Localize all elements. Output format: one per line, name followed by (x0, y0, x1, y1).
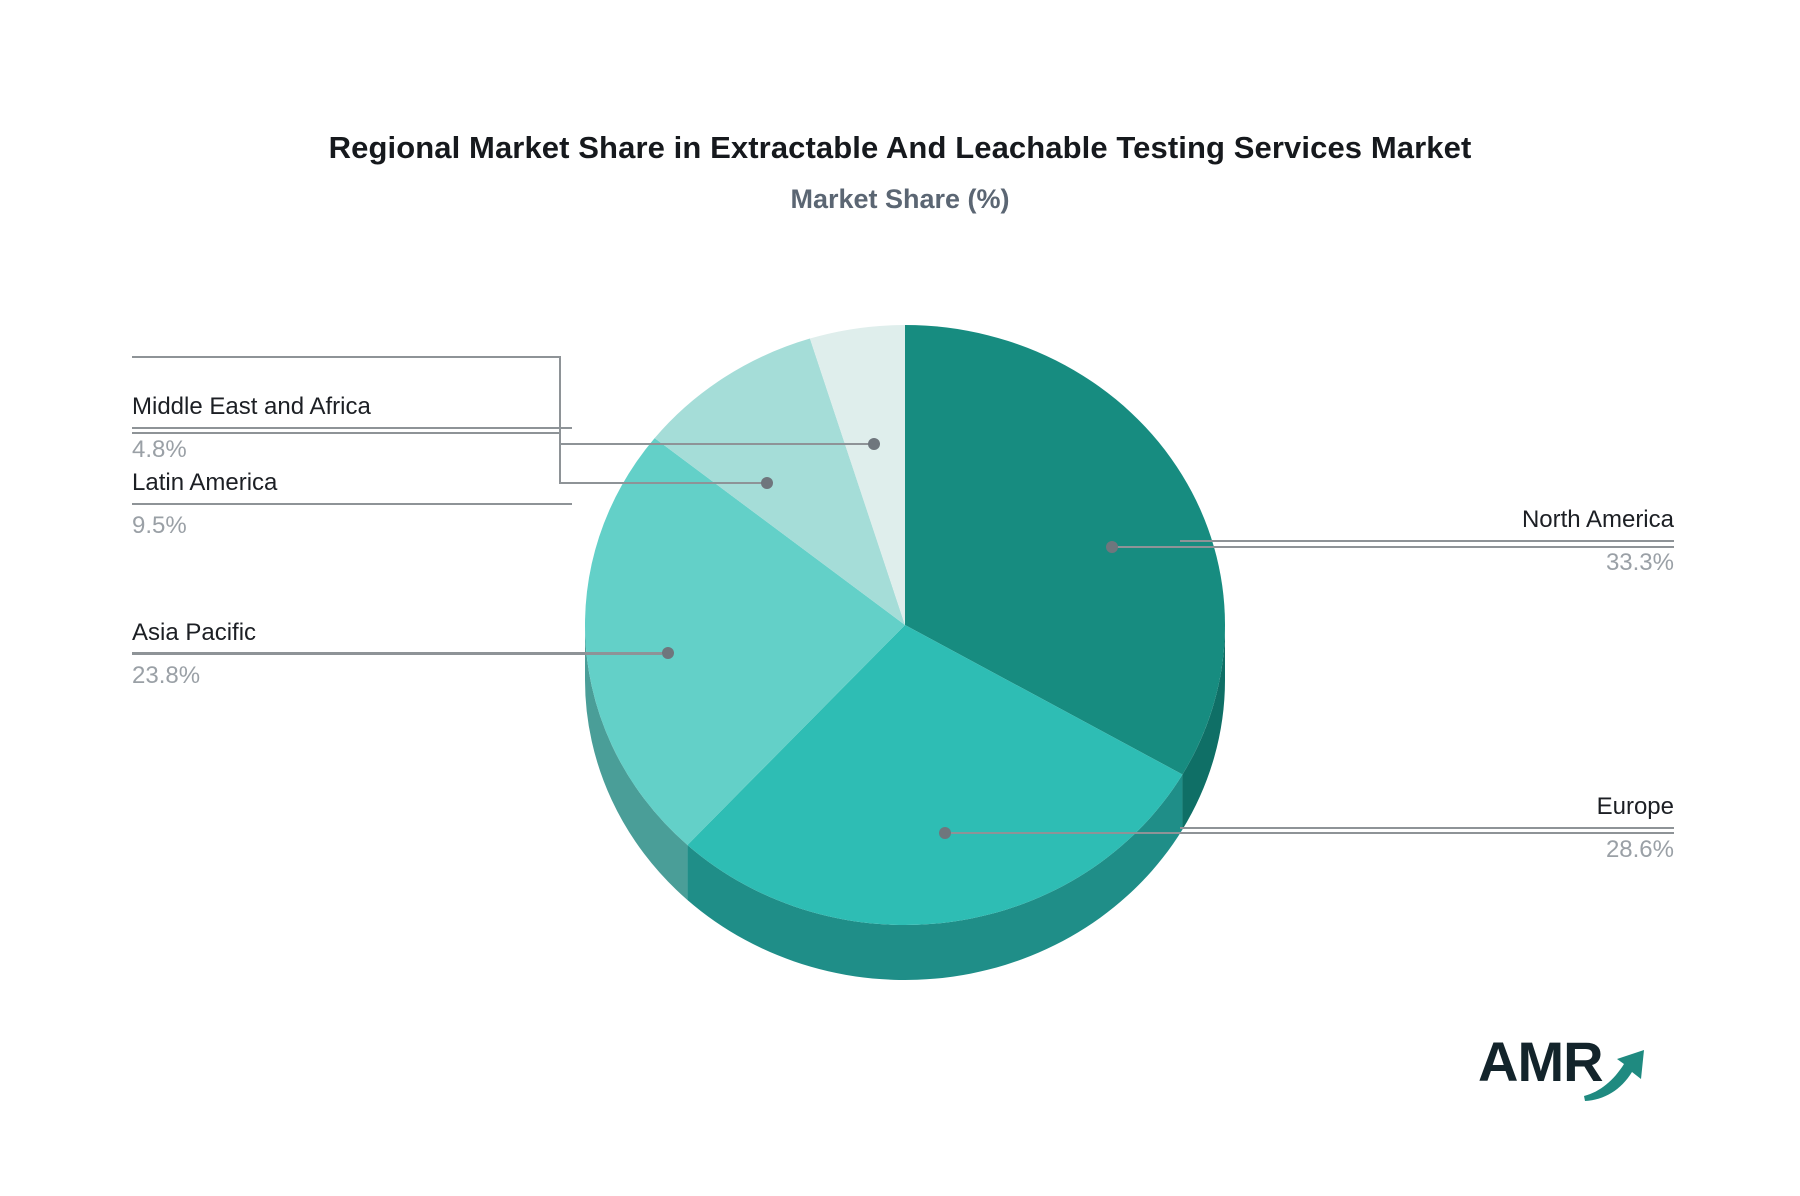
callout-value: 23.8% (132, 655, 662, 691)
page-title: Regional Market Share in Extractable And… (0, 128, 1800, 168)
growth-arrow-icon (1478, 1030, 1658, 1102)
callout-value: 4.8% (132, 429, 572, 465)
pie-svg: North America 33.3%Europe 28.6%Asia Paci… (585, 370, 1225, 930)
chart-subtitle: Market Share (%) (0, 182, 1800, 216)
callout-label: Europe (1180, 792, 1674, 827)
pie-chart: North America 33.3%Europe 28.6%Asia Paci… (585, 370, 1225, 930)
callout-asia-pacific[interactable]: Asia Pacific 23.8% (132, 618, 662, 691)
callout-label: Asia Pacific (132, 618, 662, 653)
callout-north-america[interactable]: North America 33.3% (1180, 505, 1674, 578)
callout-latin-america[interactable]: Latin America 9.5% (132, 468, 572, 541)
callout-value: 28.6% (1180, 829, 1674, 865)
callout-label: North America (1180, 505, 1674, 540)
callout-label: Middle East and Africa (132, 392, 572, 427)
chart-canvas: Regional Market Share in Extractable And… (0, 0, 1800, 1196)
callout-label: Latin America (132, 468, 572, 503)
callout-value: 33.3% (1180, 542, 1674, 578)
callout-europe[interactable]: Europe 28.6% (1180, 792, 1674, 865)
callout-value: 9.5% (132, 505, 572, 541)
amr-logo: AMR (1478, 1030, 1658, 1102)
callout-middle-east-and-africa[interactable]: Middle East and Africa 4.8% (132, 392, 572, 465)
pie-slices: North America 33.3%Europe 28.6%Asia Paci… (585, 325, 1225, 925)
title-block: Regional Market Share in Extractable And… (0, 128, 1800, 216)
